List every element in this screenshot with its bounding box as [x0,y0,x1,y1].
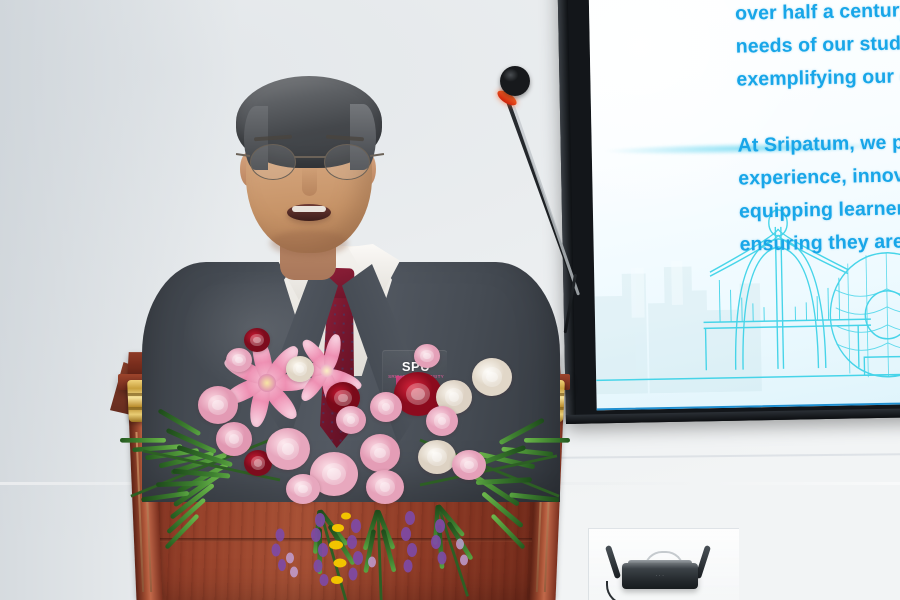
mic-lower-stem [564,274,578,334]
pink-rose [414,344,440,368]
router-power-cable [606,581,652,600]
white-rose [472,358,512,396]
wifi-router: · · · [604,545,714,595]
gooseneck-microphone [438,66,608,326]
pink-rose [286,474,320,504]
pink-rose [370,392,402,422]
pink-rose [452,450,486,480]
flower-arrangement [120,330,590,600]
router-antenna-left [605,545,621,579]
mic-windscreen [500,66,530,96]
photo-scene: Established in 197 over half a century n… [0,0,900,600]
white-rose [418,440,456,474]
pink-rose [366,470,404,504]
glasses-bridge [294,156,326,158]
red-rose [244,328,270,352]
pink-rose [226,348,252,372]
slide-surface: Established in 197 over half a century n… [588,0,900,410]
slide-line-5: At Sripatum, we pr [737,122,900,163]
lens-left [250,144,296,180]
pink-rose [198,386,238,424]
pink-rose [336,406,366,434]
mouth [287,204,331,221]
slide-text-block: Established in 197 over half a century n… [734,0,900,262]
pink-rose [216,422,252,456]
mic-cable [512,106,580,296]
slide-line-2: over half a century [735,0,900,31]
pink-rose [426,406,458,436]
pink-rose [266,428,310,470]
pink-rose [360,434,400,472]
router-brand-label: · · · [622,573,698,578]
white-rose [286,356,314,382]
chin-shadow [270,230,348,256]
projection-screen: Established in 197 over half a century n… [557,0,900,424]
glasses-temple-right [370,153,384,157]
eyeglasses [246,144,374,178]
lens-right [324,144,370,180]
